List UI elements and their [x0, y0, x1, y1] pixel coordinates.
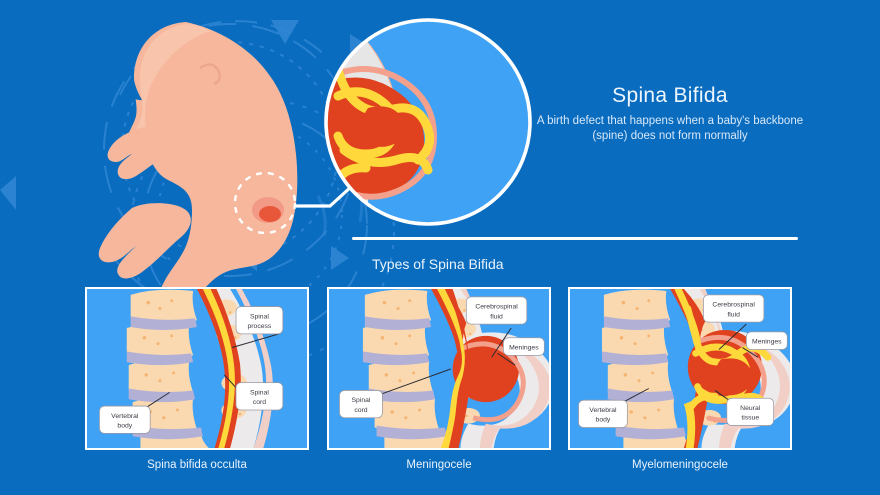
- magnifier-ring: [326, 20, 530, 224]
- page-title: Spina Bifida: [505, 84, 835, 108]
- callout-line-2: fluid: [727, 311, 740, 318]
- magnifier-connector: [296, 186, 352, 206]
- lesion-highlight-circle: [235, 173, 295, 233]
- callout-line-1: Vertebral: [589, 407, 617, 414]
- infographic-canvas: Spina Bifida A birth defect that happens…: [0, 0, 880, 495]
- callout-line-1: Vertebral: [111, 413, 139, 420]
- callout-line-1: Cerebrospinal: [712, 302, 755, 309]
- fetus-body: [99, 22, 298, 319]
- callout-line-1: Spinal: [250, 313, 269, 320]
- types-section-title: Types of Spina Bifida: [372, 256, 504, 272]
- callout-line-1: Spinal: [250, 389, 269, 396]
- callout-line-1: Meninges: [509, 344, 539, 351]
- magnifier-content: [248, 20, 530, 237]
- callout-line-1: Meninges: [752, 339, 782, 346]
- callout-line-2: cord: [253, 399, 266, 406]
- caption-myelomeningocele: Myelomeningocele: [568, 459, 792, 471]
- diagram-occulta: Spinal process Spinal cord Vertebral bod…: [87, 289, 307, 448]
- callout-line-2: cord: [354, 407, 367, 414]
- panel-myelomeningocele: Cerebrospinal fluid Meninges Vertebral b…: [568, 287, 792, 450]
- callout-line-2: body: [596, 417, 611, 424]
- callout-line-2: process: [247, 323, 271, 330]
- callout-line-2: body: [117, 423, 132, 430]
- callout-line-2: tissue: [741, 415, 759, 422]
- caption-meningocele: Meningocele: [327, 459, 551, 471]
- diagram-meningocele: Cerebrospinal fluid Meninges Spinal cord: [329, 289, 549, 448]
- panel-spina-bifida-occulta: Spinal process Spinal cord Vertebral bod…: [85, 287, 309, 450]
- subtitle-line-2: (spine) does not form normally: [505, 129, 835, 144]
- callout-line-2: fluid: [490, 313, 503, 320]
- callout-line-1: Neural: [740, 405, 761, 412]
- diagram-myelomeningocele: Cerebrospinal fluid Meninges Vertebral b…: [570, 289, 790, 448]
- section-divider: [352, 237, 798, 240]
- callout-line-1: Spinal: [351, 397, 370, 404]
- callout-line-1: Cerebrospinal: [475, 304, 518, 311]
- page-subtitle: A birth defect that happens when a baby'…: [505, 114, 835, 144]
- caption-occulta: Spina bifida occulta: [85, 459, 309, 471]
- subtitle-line-1: A birth defect that happens when a baby'…: [505, 114, 835, 129]
- panel-meningocele: Cerebrospinal fluid Meninges Spinal cord: [327, 287, 551, 450]
